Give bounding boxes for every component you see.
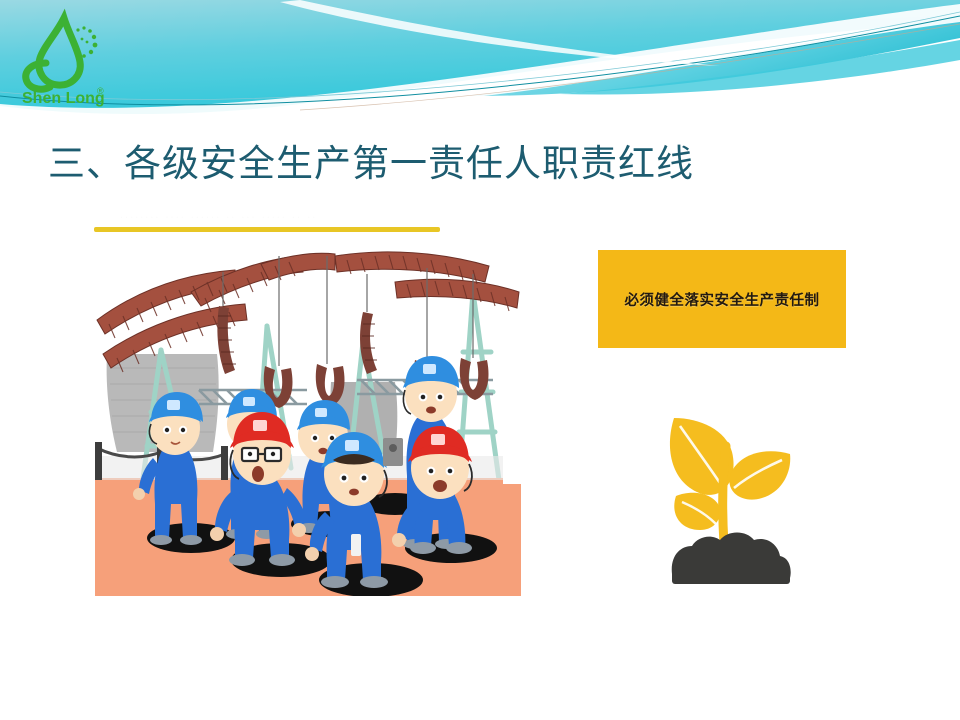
- safety-slogan-banner: 必须健全落实安全生产责任制: [598, 250, 846, 348]
- waveform-header-band: [0, 0, 960, 118]
- page-title: 三、各级安全生产第一责任人职责红线: [48, 142, 908, 186]
- logo-mark-icon: Shen Long ®: [12, 8, 116, 112]
- sprout-icon: [650, 388, 810, 586]
- logo-wordmark: Shen Long: [22, 90, 105, 107]
- slide-root: Shen Long ® 三、各级安全生产第一责任人职责红线 ........ .…: [0, 0, 960, 720]
- power-plant-workers-cartoon: [95, 242, 521, 596]
- yellow-divider-rule: [94, 227, 440, 232]
- growing-sprout-graphic: [650, 388, 810, 586]
- header-wave-art: [0, 0, 960, 118]
- safety-slogan-text: 必须健全落实安全生产责任制: [625, 289, 820, 310]
- shen-long-logo: Shen Long ®: [12, 8, 116, 112]
- logo-registered-mark: ®: [97, 86, 104, 96]
- cartoon-illustration-art: [95, 242, 521, 596]
- faint-placeholder-text: ........ .... ...... .. ... ..... .. ..: [120, 209, 540, 225]
